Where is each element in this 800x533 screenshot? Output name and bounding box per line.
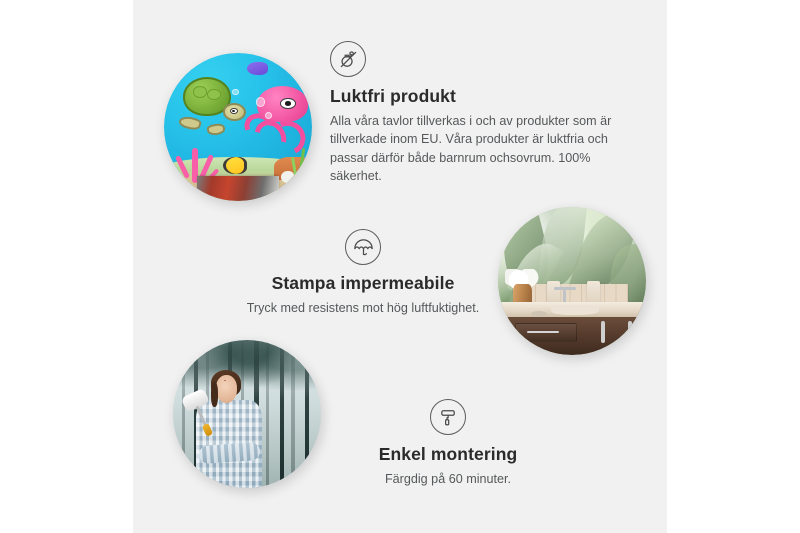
feature-description: Färgdig på 60 minuter.	[303, 470, 593, 488]
feature-description: Alla våra tavlor tillverkas i och av pro…	[330, 112, 630, 185]
vanity-cabinet	[507, 317, 643, 355]
icon-wrap	[193, 229, 533, 265]
paint-roller-icon	[430, 399, 466, 435]
sink-basin	[551, 305, 598, 315]
feature-odor-free: Luktfri produkt Alla våra tavlor tillver…	[330, 41, 630, 185]
bubble-icon	[256, 97, 265, 106]
product-photo-overlay	[197, 176, 280, 201]
fish-illustration	[247, 62, 268, 75]
no-odor-spray-bottle-icon	[330, 41, 366, 77]
product-image-bathroom-wallpaper	[498, 207, 646, 355]
octopus-illustration	[247, 86, 309, 154]
fish-illustration	[281, 171, 294, 183]
feature-waterproof-print: Stampa impermeabile Tryck med resistens …	[193, 229, 533, 317]
feature-title: Enkel montering	[303, 444, 593, 465]
woman-illustration	[191, 373, 274, 488]
feature-title: Stampa impermeabile	[193, 273, 533, 294]
feature-title: Luktfri produkt	[330, 86, 630, 107]
content-canvas: Luktfri produkt Alla våra tavlor tillver…	[133, 0, 667, 533]
fish-illustration	[223, 157, 247, 175]
turtle-illustration	[177, 77, 242, 130]
feature-easy-mounting: Enkel montering Färgdig på 60 minuter.	[303, 399, 593, 488]
promo-infographic: Luktfri produkt Alla våra tavlor tillver…	[0, 0, 800, 533]
umbrella-icon	[345, 229, 381, 265]
product-image-forest-mural	[173, 340, 321, 488]
icon-wrap	[330, 41, 630, 77]
feature-description: Tryck med resistens mot hög luftfuktighe…	[193, 299, 533, 317]
bubble-icon	[232, 89, 238, 95]
product-image-underwater-scene	[164, 53, 312, 201]
icon-wrap	[303, 399, 593, 435]
